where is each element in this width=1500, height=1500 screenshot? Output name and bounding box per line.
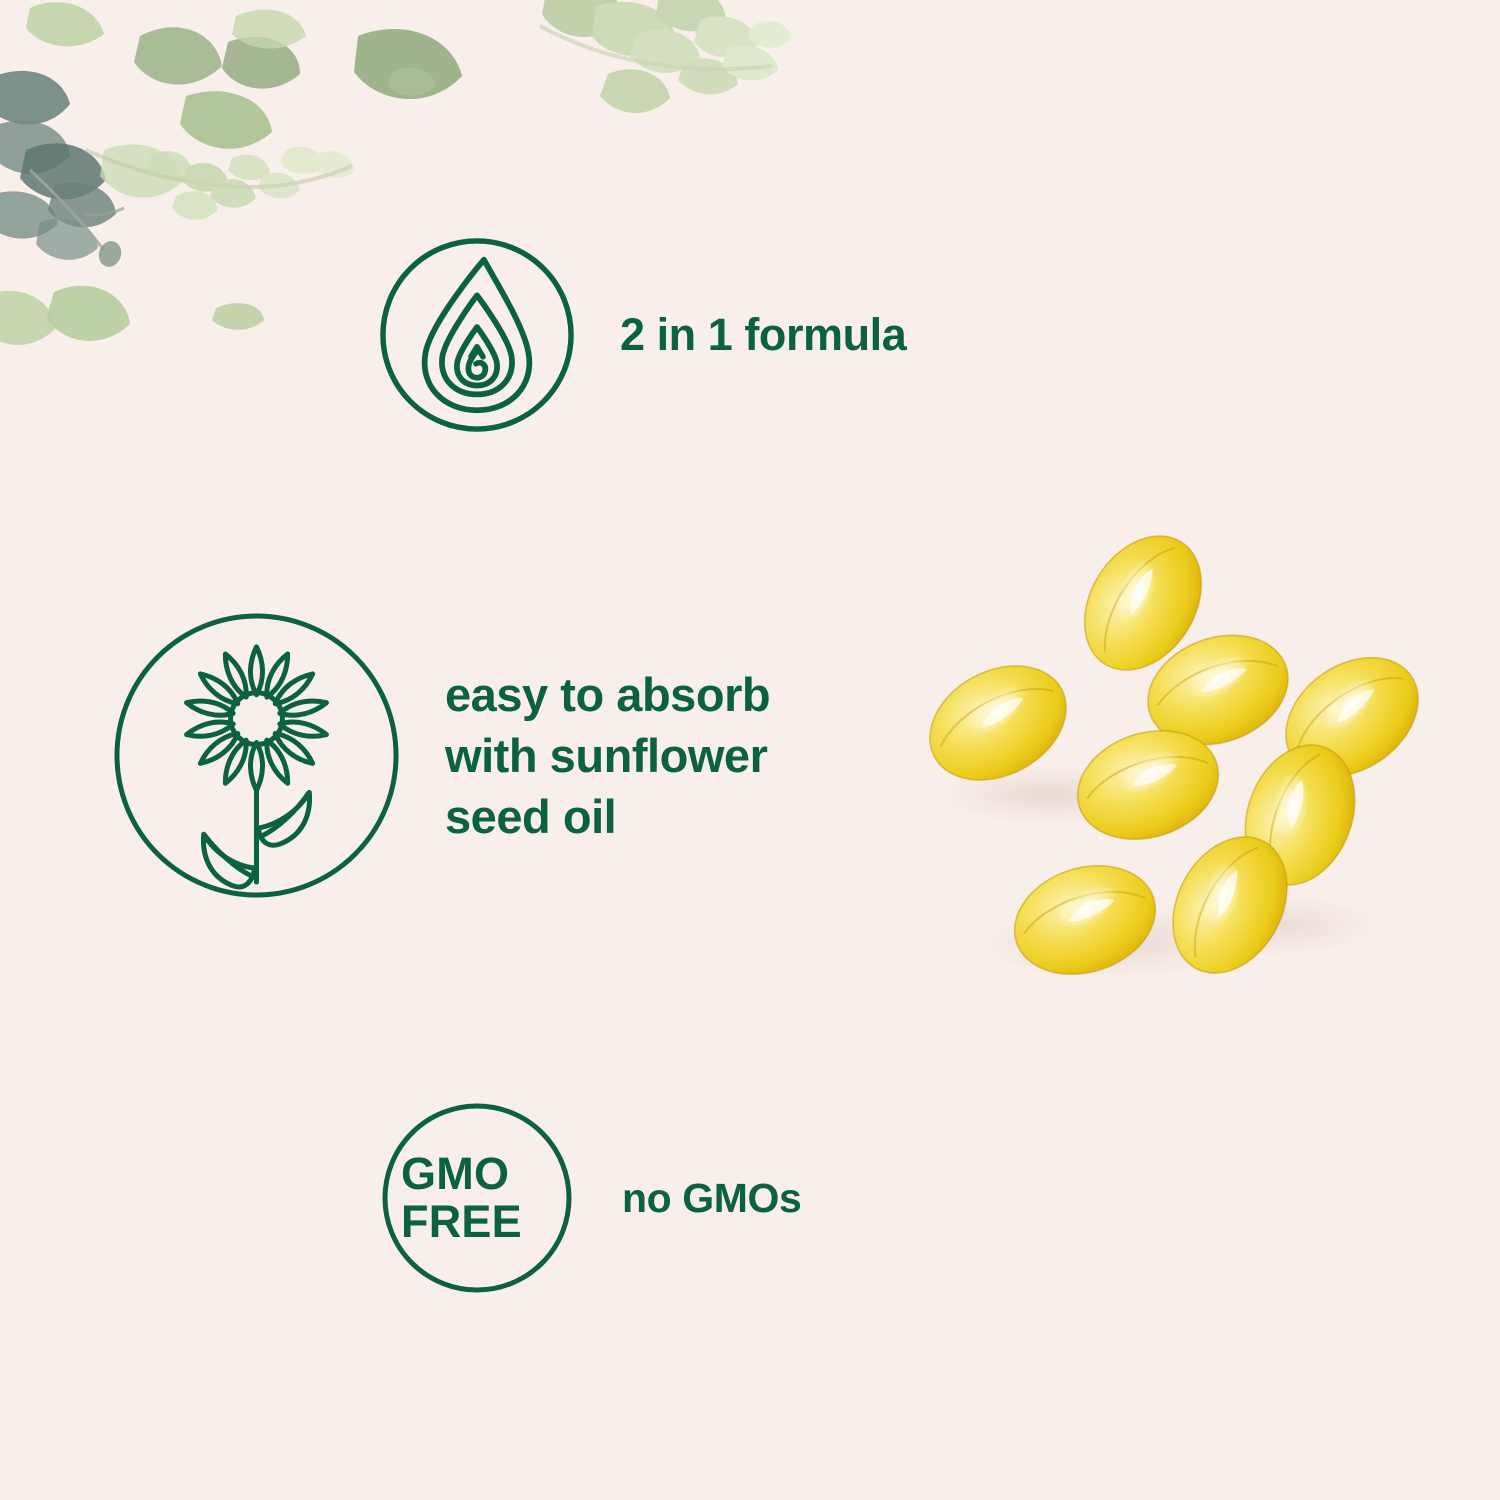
feature-label-absorb: easy to absorb with sunflower seed oil <box>445 664 770 847</box>
softgel-capsules-image <box>900 505 1470 1015</box>
water-droplet-spiral-icon <box>378 236 576 434</box>
gmo-line-2: FREE <box>401 1198 522 1246</box>
feature-label-gmo: no GMOs <box>622 1171 801 1225</box>
gmo-free-badge-icon: GMO FREE <box>380 1101 574 1295</box>
feature-row-formula: 2 in 1 formula <box>378 236 906 434</box>
feature-row-gmo: GMO FREE no GMOs <box>380 1101 801 1295</box>
sunflower-plant-icon <box>112 611 401 900</box>
gmo-free-wordmark: GMO FREE <box>380 1101 574 1295</box>
gmo-line-1: GMO <box>401 1150 509 1198</box>
feature-row-absorb: easy to absorb with sunflower seed oil <box>112 611 770 900</box>
infographic-canvas: 2 in 1 formula <box>0 0 1500 1500</box>
feature-label-formula: 2 in 1 formula <box>620 306 906 364</box>
